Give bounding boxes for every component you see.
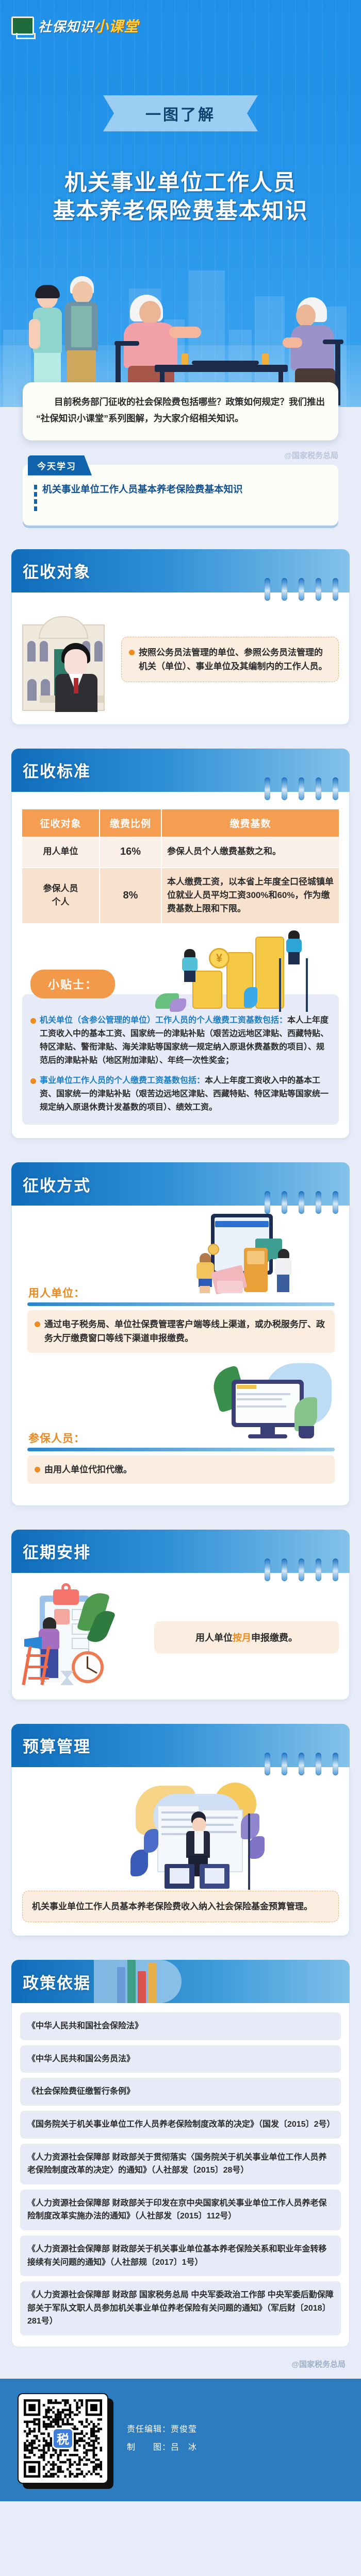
footer-credits: 责任编辑：贾俊莹 制 图：吕 冰 (127, 2420, 197, 2456)
list-item: 《人力资源社会保障部 财政部 国家税务总局 中央军委政治工作部 中央军委后勤保障… (20, 2281, 341, 2335)
editor-label: 责任编辑： (127, 2425, 171, 2434)
list-item: 事业单位工作人员的个人缴费工资基数包括：本人上年度工资收入中的基本工资、国家统一… (30, 1074, 331, 1114)
table-header-row: 征收对象 缴费比例 缴费基数 (22, 809, 339, 837)
qr-code[interactable]: 税 (18, 2393, 108, 2484)
table-header-rate: 缴费比例 (100, 809, 161, 837)
today-study-body: 机关事业单位工作人员基本养老保险费基本知识 (34, 482, 329, 511)
qr-code-wrapper[interactable]: 税 (18, 2393, 108, 2484)
method-text-insured: 由用人单位代扣代缴。 (44, 1463, 132, 1477)
table-row: 用人单位 16% 参保人员个人缴费基数之和。 (22, 837, 339, 868)
list-item: 《中华人民共和国公务员法》 (20, 2045, 341, 2073)
section-title: 征收标准 (23, 758, 91, 782)
binder-rings-icon (265, 1558, 338, 1581)
list-item: 机关单位（含参公管理的单位）工作人员的个人缴费工资基数包括：本人上年度工资收入中… (30, 1014, 331, 1067)
brand-text-secondary: 小课堂 (94, 15, 139, 36)
blackboard-icon (11, 16, 34, 35)
tips-content: 机关单位（含参公管理的单位）工作人员的个人缴费工资基数包括：本人上年度工资收入中… (22, 994, 339, 1125)
collection-object-text: 按照公务员法管理的单位、参照公务员法管理的机关（单位）、事业单位及其编制内的工作… (139, 646, 330, 673)
table-header-base: 缴费基数 (161, 809, 339, 837)
section-title: 征收方式 (23, 1173, 91, 1196)
section-header-collection-method: 征收方式 (11, 1162, 350, 1206)
section-body-collection-standard: 征收对象 缴费比例 缴费基数 用人单位 16% 参保人员个人缴费基数之和。 参保… (11, 792, 350, 1139)
section-body-collection-method: 用人单位： 通过电子税务局、单位社保费管理客户端等线上渠道，或办税服务厅、政务大… (11, 1206, 350, 1506)
method-note-insured: 由用人单位代扣代缴。 (27, 1455, 335, 1484)
intro-section: 目前税务部门征收的社会保险费包括哪些？政策如何规定？我们推出“社保知识小课堂”系… (0, 382, 361, 440)
brand-text: 社保知识 小课堂 (38, 15, 139, 36)
brand-text-primary: 社保知识 (38, 16, 94, 36)
bullet-dot-icon (35, 1467, 40, 1472)
checklist-megaphone-illustration (22, 1588, 151, 1686)
intro-card: 目前税务部门征收的社会保险费包括哪些？政策如何规定？我们推出“社保知识小课堂”系… (23, 382, 338, 440)
method-block-employer: 用人单位： 通过电子税务局、单位社保费管理客户端等线上渠道，或办税服务厅、政务大… (22, 1221, 339, 1352)
section-title: 政策依据 (23, 1970, 91, 1993)
list-item: 《人力资源社会保障部 财政部关于贯彻落实〈国务院关于机关事业单位工作人员养老保险… (20, 2144, 341, 2184)
today-study-card: 今天学习 机关事业单位工作人员基本养老保险费基本知识 (23, 465, 338, 526)
cell-object: 参保人员 个人 (22, 868, 100, 924)
list-item: 《国务院关于机关事业单位工作人员养老保险制度改革的决定》（国发〔2015〕2号） (20, 2111, 341, 2139)
page-title-line1: 机关事业单位工作人员 (0, 169, 361, 197)
ribbon-banner: 一图了解 (103, 95, 258, 131)
ribbon-label: 一图了解 (145, 102, 216, 125)
section-body-policy-basis: 《中华人民共和国社会保险法》 《中华人民共和国公务员法》 《社会保险费征缴暂行条… (11, 2003, 350, 2347)
section-collection-standard: 征收标准 征收对象 缴费比例 缴费基数 用人单位 16% (11, 749, 350, 1139)
tips-block: ¥ 小贴士： (22, 929, 339, 1125)
section-body-budget-management: 机关事业单位工作人员基本养老保险费收入纳入社会保险基金预算管理。 (11, 1767, 350, 1937)
method-block-insured: 参保人员： 由用人单位代扣代缴。 (22, 1366, 339, 1484)
binder-rings-icon (265, 578, 338, 601)
section-collection-object: 征收对象 (11, 549, 350, 725)
list-item: 《中华人民共和国社会保险法》 (20, 2012, 341, 2040)
divider (27, 1448, 335, 1451)
brand-logo: 社保知识 小课堂 (11, 15, 139, 36)
divider (27, 1302, 335, 1306)
today-study-topic: 机关事业单位工作人员基本养老保险费基本知识 (42, 482, 243, 497)
page-title-line2: 基本养老保险费基本知识 (0, 197, 361, 226)
section-body-collection-period: 用人单位按月申报缴费。 (11, 1573, 350, 1700)
section-header-budget-management: 预算管理 (11, 1724, 350, 1767)
period-text-highlight: 按月 (233, 1633, 251, 1643)
bullet-dot-icon (30, 1078, 36, 1084)
section-collection-period: 征期安排 (11, 1530, 350, 1700)
bullet-dot-icon (30, 1018, 36, 1024)
bullet-dot-icon (35, 1321, 40, 1327)
section-header-policy-basis: 政策依据 (11, 1960, 350, 2003)
budget-management-note: 机关事业单位工作人员基本养老保险费收入纳入社会保险基金预算管理。 (22, 1891, 339, 1923)
section-header-collection-standard: 征收标准 (11, 749, 350, 792)
binder-rings-icon (265, 1753, 338, 1775)
section-header-collection-period: 征期安排 (11, 1530, 350, 1573)
section-title: 征收对象 (23, 559, 91, 582)
bullet-dot-icon (129, 650, 135, 655)
table-row: 参保人员 个人 8% 本人缴费工资，以本省上年度全口径城镇单位就业人员平均工资3… (22, 868, 339, 924)
list-item: 《人力资源社会保障部 财政部关于机关事业单位基本养老保险关系和职业年金转移接续有… (20, 2235, 341, 2276)
cell-base: 参保人员个人缴费基数之和。 (161, 837, 339, 868)
collection-object-note: 按照公务员法管理的单位、参照公务员法管理的机关（单位）、事业单位及其编制内的工作… (121, 637, 339, 682)
section-title: 预算管理 (23, 1734, 91, 1757)
footer-bar: 税 责任编辑：贾俊莹 制 图：吕 冰 (0, 2379, 361, 2501)
hero-banner: 社保知识 小课堂 一图了解 机关事业单位工作人员 基本养老保险费基本知识 (0, 0, 361, 407)
today-study-tab: 今天学习 (28, 455, 92, 476)
collection-standard-table: 征收对象 缴费比例 缴费基数 用人单位 16% 参保人员个人缴费基数之和。 参保… (22, 809, 339, 924)
documents-stack-illustration (22, 1783, 339, 1891)
section-policy-basis: 政策依据 《中华人民共和国社会保险法》 《中华人民共和国公务员法》 《社会保险费… (11, 1960, 350, 2347)
designer-name: 吕 冰 (171, 2443, 197, 2452)
method-note-employer: 通过电子税务局、单位社保费管理客户端等线上渠道，或办税服务厅、政务大厅缴费窗口等… (27, 1310, 335, 1352)
tax-logo-icon: 税 (52, 2428, 74, 2449)
list-item: 《社会保险费征缴暂行条例》 (20, 2078, 341, 2106)
cell-base: 本人缴费工资，以本省上年度全口径城镇单位就业人员平均工资300%和60%，作为缴… (161, 868, 339, 924)
binder-rings-icon (265, 1191, 338, 1214)
tips-badge: 小贴士： (30, 970, 115, 998)
method-label-insured: 参保人员： (28, 1430, 339, 1446)
editor-name: 贾俊莹 (171, 2425, 197, 2434)
period-text-after: 申报缴费。 (251, 1633, 298, 1643)
cell-rate: 16% (100, 837, 161, 868)
tip-key: 机关单位（含参公管理的单位）工作人员的个人缴费工资基数包括： (40, 1016, 287, 1025)
intro-text: 目前税务部门征收的社会保险费包括哪些？政策如何规定？我们推出“社保知识小课堂”系… (36, 394, 325, 427)
cell-rate: 8% (100, 868, 161, 924)
list-item: 《人力资源社会保障部 财政部关于印发在京中央国家机关事业单位工作人员养老保险制度… (20, 2190, 341, 2230)
today-study-section: 今天学习 机关事业单位工作人员基本养老保险费基本知识 (0, 461, 361, 526)
collection-period-note: 用人单位按月申报缴费。 (154, 1621, 339, 1653)
section-header-collection-object: 征收对象 (11, 549, 350, 592)
tip-key: 事业单位工作人员的个人缴费工资基数包括： (40, 1076, 205, 1085)
section-budget-management: 预算管理 (11, 1724, 350, 1937)
books-icon (117, 1960, 156, 2003)
watermark-bottom: @国家税务总局 (0, 2347, 361, 2379)
table-header-object: 征收对象 (22, 809, 100, 837)
method-label-employer: 用人单位： (28, 1285, 339, 1300)
government-building-illustration (22, 608, 120, 711)
method-text-employer: 通过电子税务局、单位社保费管理客户端等线上渠道，或办税服务厅、政务大厅缴费窗口等… (44, 1317, 327, 1345)
dot-decoration-icon (34, 482, 37, 511)
period-text-before: 用人单位 (195, 1633, 233, 1643)
binder-rings-icon (265, 777, 338, 800)
cell-object: 用人单位 (22, 837, 100, 868)
page-title: 机关事业单位工作人员 基本养老保险费基本知识 (0, 169, 361, 226)
section-title: 征期安排 (23, 1539, 91, 1563)
section-collection-method: 征收方式 (11, 1162, 350, 1506)
section-body-collection-object: 按照公务员法管理的单位、参照公务员法管理的机关（单位）、事业单位及其编制内的工作… (11, 592, 350, 725)
infographic-page: 社保知识 小课堂 一图了解 机关事业单位工作人员 基本养老保险费基本知识 目前税… (0, 0, 361, 2501)
designer-label: 制 图： (127, 2443, 171, 2452)
